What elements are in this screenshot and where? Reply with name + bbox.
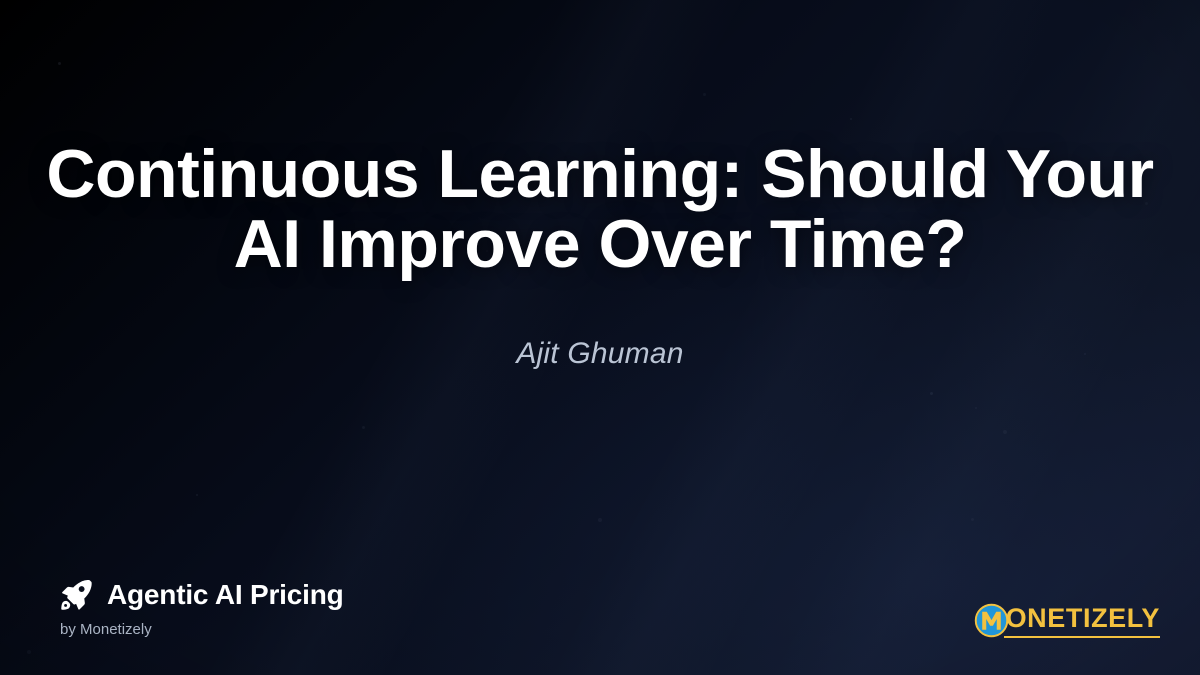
brand-row: Agentic AI Pricing bbox=[58, 577, 344, 613]
brand-byline: by Monetizely bbox=[60, 622, 344, 637]
brand-block: Agentic AI Pricing by Monetizely bbox=[58, 577, 344, 637]
logo-underline bbox=[1004, 636, 1160, 638]
monetizely-logo-inner: ONETIZELY bbox=[974, 603, 1160, 638]
page-title: Continuous Learning: Should Your AI Impr… bbox=[42, 139, 1158, 279]
rocket-icon bbox=[58, 577, 94, 613]
presenter-name: Ajit Ghuman bbox=[516, 337, 683, 371]
monetizely-logo: ONETIZELY bbox=[974, 603, 1160, 638]
monetizely-wordmark: ONETIZELY bbox=[1006, 605, 1160, 636]
title-slide: Continuous Learning: Should Your AI Impr… bbox=[0, 0, 1200, 675]
brand-name: Agentic AI Pricing bbox=[107, 581, 344, 609]
slide-content: Continuous Learning: Should Your AI Impr… bbox=[0, 0, 1200, 510]
monetizely-m-icon bbox=[974, 603, 1009, 638]
